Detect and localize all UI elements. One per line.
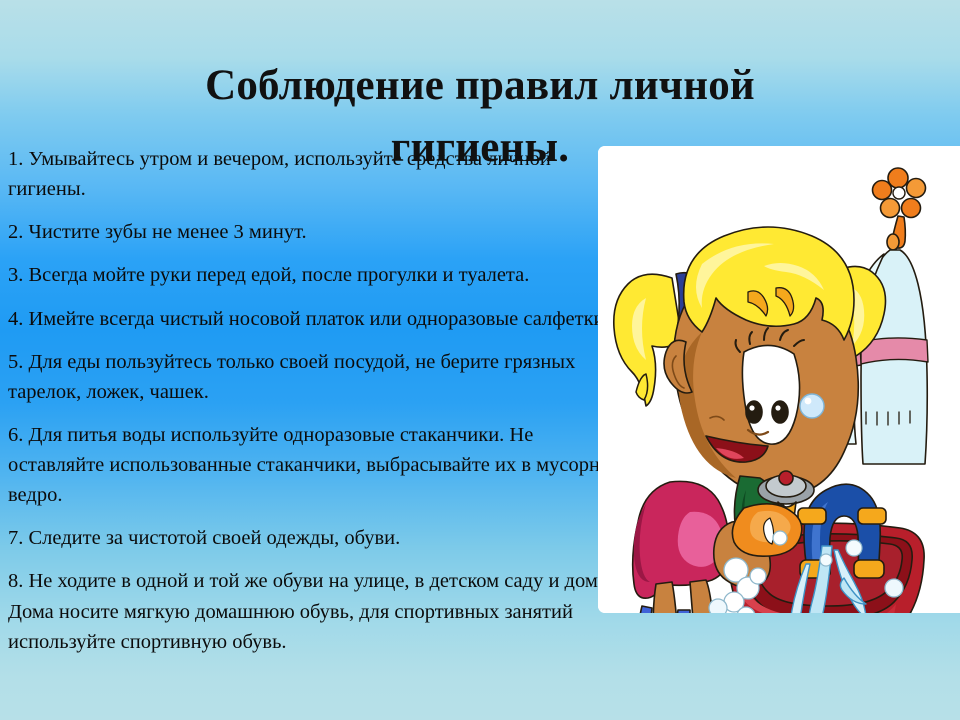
rule-item-3: 3. Всегда мойте руки перед едой, после п… (8, 260, 628, 290)
girl-washing-hands-illustration (598, 146, 960, 613)
rule-item-5: 5. Для еды пользуйтесь только своей посу… (8, 347, 628, 407)
rule-item-8: 8. Не ходите в одной и той же обуви на у… (8, 566, 628, 656)
rule-item-4: 4. Имейте всегда чистый носовой платок и… (8, 304, 628, 334)
right-pupil (772, 401, 788, 423)
left-pupil (746, 401, 762, 423)
rule-item-7: 7. Следите за чистотой своей одежды, обу… (8, 523, 628, 553)
faucet-collar-right (854, 560, 884, 578)
left-leg (653, 582, 677, 613)
illustration-card (598, 146, 960, 613)
slide-root: Соблюдение правил личной гигиены. 1. Умы… (0, 0, 960, 720)
faucet-collar-top-left (798, 508, 826, 524)
faucet-collar-top-right (858, 508, 886, 524)
rule-item-2: 2. Чистите зубы не менее 3 минут. (8, 217, 628, 247)
rule-item-6: 6. Для питья воды используйте одноразовы… (8, 420, 628, 510)
